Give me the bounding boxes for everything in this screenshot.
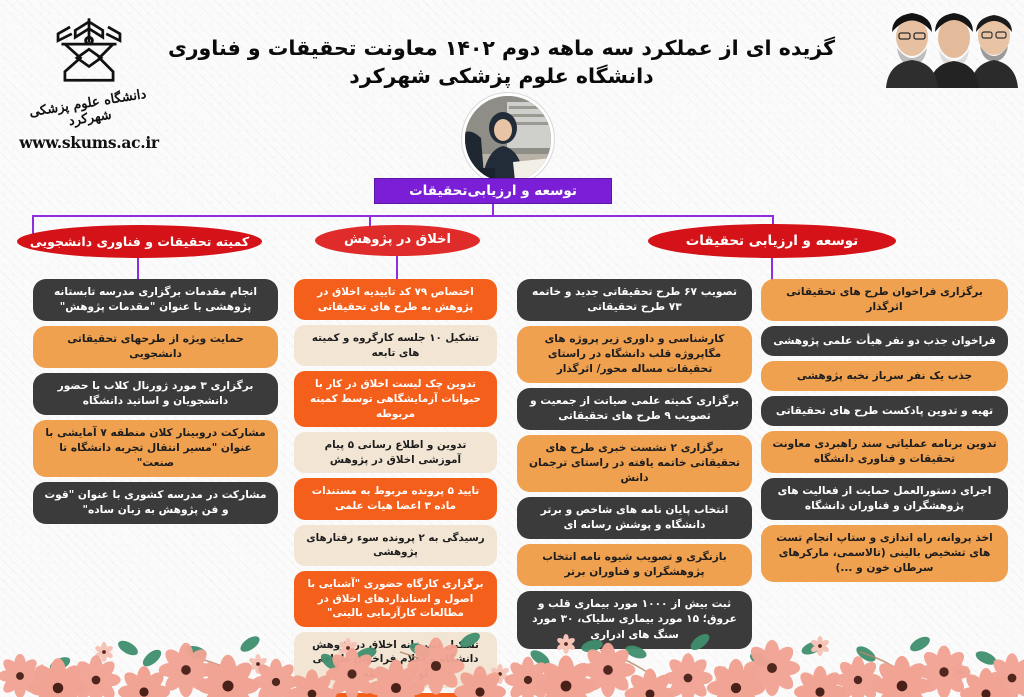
list-item[interactable]: تدوین و اطلاع رسانی ۵ پیام آموزشی اخلاق …: [294, 432, 497, 473]
list-item-label: تشکیل ۱۰ جلسه کارگروه و کمیته های تابعه: [303, 331, 488, 360]
category-student-research-technology-committee[interactable]: کمیته تحقیقات و فناوری دانشجویی: [17, 225, 262, 258]
connector-spine-middle: [396, 256, 398, 280]
list-item-label: مشارکت در مدرسه کشوری با عنوان "قوت و فن…: [42, 488, 269, 518]
list-item[interactable]: اختصاص ۷۹ کد تاییدیه اخلاق در پژوهش به ط…: [294, 279, 497, 320]
list-item[interactable]: مشارکت دروبینار کلان منطقه ۷ آمایشی با ع…: [33, 420, 278, 477]
list-item-label: اخذ پروانه، راه اندازی و ستاپ انجام تست …: [770, 531, 999, 576]
list-item[interactable]: تدوین برنامه عملیاتی سند راهبردی معاونت …: [761, 431, 1008, 473]
list-item[interactable]: جذب یک نفر سرباز نخبه پژوهشی: [761, 361, 1008, 391]
list-item-label: تایید ۵ پرونده مربوط به مستندات ماده ۳ ا…: [303, 484, 488, 513]
list-item[interactable]: حمایت ویژه از طرحهای تحقیقاتی دانشجویی: [33, 326, 278, 368]
connector-horizontal-bar: [32, 215, 774, 217]
university-website[interactable]: www.skums.ac.ir: [9, 133, 169, 152]
root-node-label: توسعه و ارزیابی‌تحقیقات: [409, 183, 577, 199]
connector-spine-right: [771, 258, 773, 280]
list-item-label: جذب یک نفر سرباز نخبه پژوهشی: [797, 369, 972, 384]
root-node: توسعه و ارزیابی‌تحقیقات: [374, 178, 612, 204]
list-item[interactable]: تشکیل دبیرخانه اخلاق در پژوهش دانشگاه و …: [294, 632, 497, 688]
list-item-label: تدوین و اطلاع رسانی ۵ پیام آموزشی اخلاق …: [303, 438, 488, 467]
list-item[interactable]: ثبت بیش از ۱۰۰۰ مورد بیماری قلب و عروق؛ …: [517, 591, 752, 648]
list-item-label: مشارکت دروبینار کلان منطقه ۷ آمایشی با ع…: [42, 426, 269, 471]
connector-spine-left: [137, 258, 139, 280]
list-item-label: انتخاب پایان نامه های شاخص و برتر دانشگا…: [526, 503, 743, 533]
list-item-label: ثبت بیش از ۱۰۰۰ مورد بیماری قلب و عروق؛ …: [526, 597, 743, 642]
column-student-committee: انجام مقدمات برگزاری مدرسه تابستانه پژوه…: [33, 279, 278, 524]
column-development-middle: تصویب ۶۷ طرح تحقیقاتی جدید و خاتمه ۷۳ طر…: [517, 279, 752, 649]
list-item-label: تدوین چک لیست اخلاق در کار با حیوانات آز…: [303, 377, 488, 421]
list-item[interactable]: رسیدگی به ۲ پرونده سوء رفتارهای پژوهشی: [294, 525, 497, 566]
list-item-label: تصویب ۶۷ طرح تحقیقاتی جدید و خاتمه ۷۳ طر…: [526, 285, 743, 315]
leader-portrait-left-icon: [884, 6, 940, 88]
list-item-label: کارشناسی و داوری زیر پروژه های مگاپروژه …: [526, 332, 743, 377]
list-item-label: بازنگری و تصویب شیوه نامه انتخاب پژوهشگر…: [526, 550, 743, 580]
list-item-label: تدوین برنامه عملیاتی سند راهبردی معاونت …: [770, 437, 999, 467]
list-item-label: رسیدگی به ۲ پرونده سوء رفتارهای پژوهشی: [303, 531, 488, 560]
list-item[interactable]: انتخاب پایان نامه های شاخص و برتر دانشگا…: [517, 497, 752, 539]
list-item[interactable]: اجرای دستورالعمل حمایت از فعالیت های پژو…: [761, 478, 1008, 520]
list-item[interactable]: برگزاری کمیته علمی صیانت از جمعیت و تصوی…: [517, 388, 752, 430]
three-leaders-portrait-icon: [879, 0, 1024, 88]
infographic-poster: دانشگاه علوم پزشکی شهرکرد www.skums.ac.i…: [0, 0, 1024, 697]
list-item[interactable]: برگزاری فراخوان طرح های تحقیقاتی اثرگذار: [761, 279, 1008, 321]
list-item[interactable]: برگزاری کارگاه حضوری "آشنایی با اصول و ا…: [294, 571, 497, 627]
list-item-label: برگزاری کمیته علمی صیانت از جمعیت و تصوی…: [526, 394, 743, 424]
list-item[interactable]: کارشناسی و داوری زیر پروژه های مگاپروژه …: [517, 326, 752, 383]
category-label: اخلاق در پژوهش: [344, 233, 451, 247]
list-item[interactable]: تدوین چک لیست اخلاق در کار با حیوانات آز…: [294, 371, 497, 427]
floral-decoration-icon: [0, 592, 1024, 697]
list-item-label: برگزاری ۲ نشست خبری طرح های تحقیقاتی خات…: [526, 441, 743, 486]
list-item-label: برگزاری ۳ مورد ژورنال کلاب با حضور دانشج…: [42, 379, 269, 409]
category-research-ethics[interactable]: اخلاق در پژوهش: [315, 225, 480, 256]
list-item-label: انجام مقدمات برگزاری مدرسه تابستانه پژوه…: [42, 285, 269, 315]
list-item-label: تهیه و تدوین پادکست طرح های تحقیقاتی: [776, 404, 993, 419]
list-item[interactable]: تشکیل ۱۰ جلسه کارگروه و کمیته های تابعه: [294, 325, 497, 366]
list-item[interactable]: تصویب ۶۷ طرح تحقیقاتی جدید و خاتمه ۷۳ طر…: [517, 279, 752, 321]
list-item[interactable]: برگزاری ۳ مورد ژورنال کلاب با حضور دانشج…: [33, 373, 278, 415]
list-item[interactable]: انجام مقدمات برگزاری مدرسه تابستانه پژوه…: [33, 279, 278, 321]
list-item[interactable]: مشارکت در مدرسه کشوری با عنوان "قوت و فن…: [33, 482, 278, 524]
column-research-ethics: اختصاص ۷۹ کد تاییدیه اخلاق در پژوهش به ط…: [294, 279, 497, 697]
list-item[interactable]: فراخوان جذب دو نفر هیأت علمی پژوهشی: [761, 326, 1008, 356]
category-label: توسعه و ارزیابی تحقیقات: [686, 234, 859, 249]
list-item[interactable]: برگزاری ۲ نشست خبری طرح های تحقیقاتی خات…: [517, 435, 752, 492]
list-item[interactable]: اخذ پروانه، راه اندازی و ستاپ انجام تست …: [761, 525, 1008, 582]
list-item[interactable]: تهیه و تدوین پادکست طرح های تحقیقاتی: [761, 396, 1008, 426]
category-label: کمیته تحقیقات و فناوری دانشجویی: [30, 235, 249, 249]
vice-chancellor-portrait-icon: [462, 93, 554, 185]
list-item-label: حمایت ویژه از طرحهای تحقیقاتی دانشجویی: [42, 332, 269, 362]
list-item[interactable]: بازنگری و تصویب شیوه نامه انتخاب پژوهشگر…: [517, 544, 752, 586]
list-item-label: اجرای دستورالعمل حمایت از فعالیت های پژو…: [770, 484, 999, 514]
category-research-development-evaluation[interactable]: توسعه و ارزیابی تحقیقات: [648, 224, 896, 258]
list-item[interactable]: تایید ۵ پرونده مربوط به مستندات ماده ۳ ا…: [294, 478, 497, 519]
page-title: گزیده ای از عملکرد سه ماهه دوم ۱۴۰۲ معاو…: [129, 35, 874, 90]
list-item-label: تشکیل دبیرخانه اخلاق در پژوهش دانشگاه و …: [303, 638, 488, 682]
skums-university-logo-icon: [46, 8, 132, 94]
list-item[interactable]: انجام اقدامات لازم جهت بهسازی ساختمان نگ…: [294, 693, 497, 697]
list-item-label: برگزاری کارگاه حضوری "آشنایی با اصول و ا…: [303, 577, 488, 621]
list-item-label: اختصاص ۷۹ کد تاییدیه اخلاق در پژوهش به ط…: [303, 285, 488, 314]
column-development-right: برگزاری فراخوان طرح های تحقیقاتی اثرگذار…: [761, 279, 1008, 582]
list-item-label: برگزاری فراخوان طرح های تحقیقاتی اثرگذار: [770, 285, 999, 315]
list-item-label: فراخوان جذب دو نفر هیأت علمی پژوهشی: [773, 334, 996, 349]
